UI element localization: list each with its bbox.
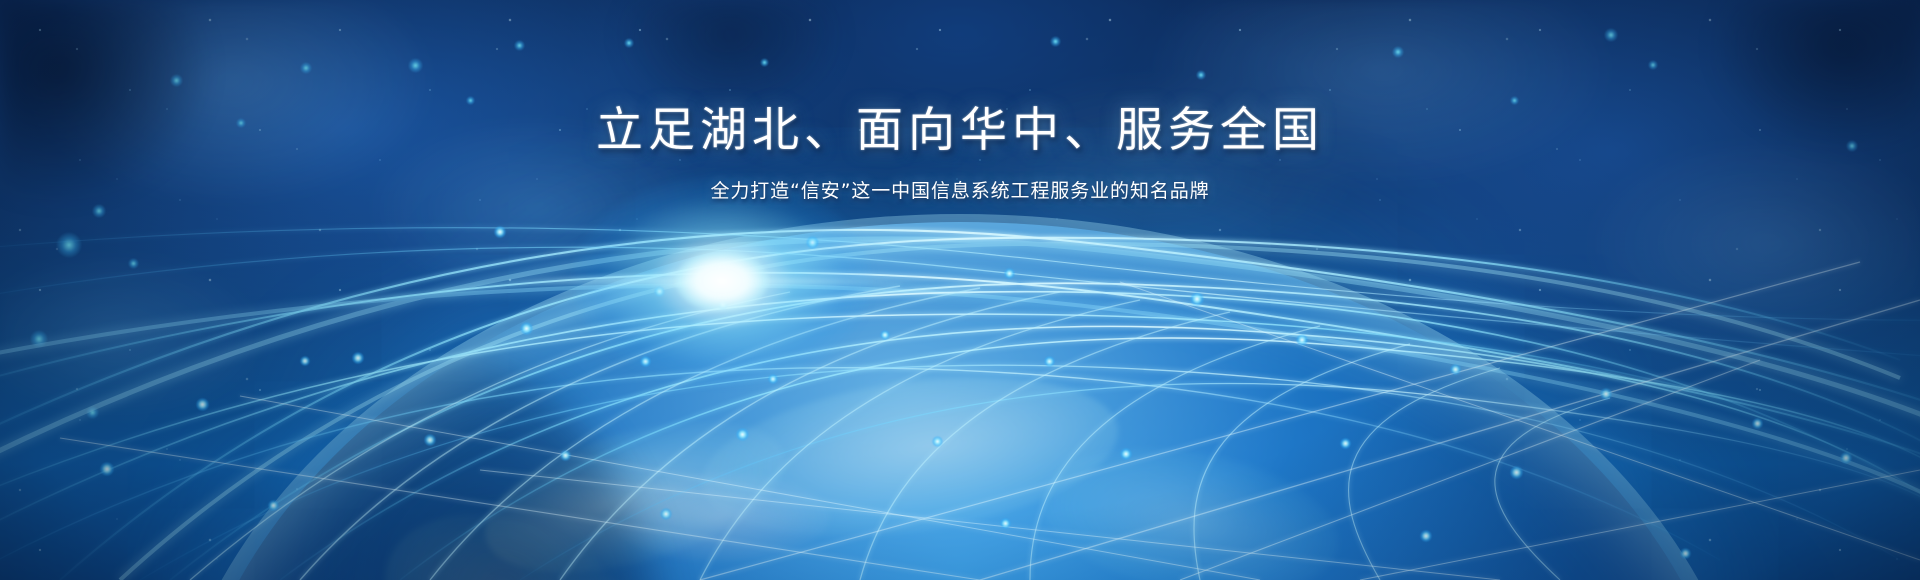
star-cluster	[1392, 46, 1404, 58]
star-cluster	[170, 74, 183, 87]
network-node	[880, 330, 890, 340]
network-node	[736, 428, 749, 441]
network-node	[1420, 530, 1432, 542]
banner-headline: 立足湖北、面向华中、服务全国	[0, 104, 1920, 159]
star-cluster	[56, 232, 82, 258]
star-cluster	[1050, 36, 1061, 47]
network-node	[520, 322, 533, 335]
network-node	[100, 462, 114, 476]
star-cluster	[760, 58, 769, 67]
star-cluster	[408, 58, 423, 73]
network-node	[494, 226, 506, 238]
lens-flare-streak	[502, 277, 942, 285]
star-cluster	[624, 38, 634, 48]
banner-subheadline: 全力打造“信安”这一中国信息系统工程服务业的知名品牌	[0, 176, 1920, 203]
network-node	[196, 398, 209, 411]
network-node	[424, 434, 436, 446]
network-node	[1340, 438, 1351, 449]
star-cluster	[92, 204, 106, 218]
banner-copy: 立足湖北、面向华中、服务全国 全力打造“信安”这一中国信息系统工程服务业的知名品…	[0, 104, 1920, 203]
network-node	[1120, 448, 1132, 460]
network-node	[300, 356, 310, 366]
network-node	[1600, 388, 1612, 400]
network-node	[1450, 364, 1461, 375]
star-cluster	[1196, 70, 1206, 80]
network-node	[1510, 466, 1523, 479]
network-node	[1680, 548, 1691, 559]
network-node	[660, 508, 672, 520]
star-cluster	[86, 406, 99, 419]
star-cluster	[1648, 60, 1658, 70]
network-node	[1296, 334, 1308, 346]
network-node	[1000, 518, 1011, 529]
star-cluster	[1604, 28, 1618, 42]
network-node	[1004, 268, 1015, 279]
hero-banner: 立足湖北、面向华中、服务全国 全力打造“信安”这一中国信息系统工程服务业的知名品…	[0, 0, 1920, 580]
network-node	[1044, 356, 1055, 367]
network-node	[1190, 292, 1204, 306]
star-cluster	[514, 40, 525, 51]
network-node	[932, 436, 943, 447]
network-node	[1840, 452, 1852, 464]
star-cluster	[30, 330, 48, 348]
network-node	[352, 352, 364, 364]
network-node	[560, 450, 571, 461]
star-cluster	[128, 258, 139, 269]
network-node	[1752, 418, 1763, 429]
center-lens-flare	[722, 281, 723, 282]
network-node	[268, 500, 279, 511]
star-cluster	[300, 62, 312, 74]
